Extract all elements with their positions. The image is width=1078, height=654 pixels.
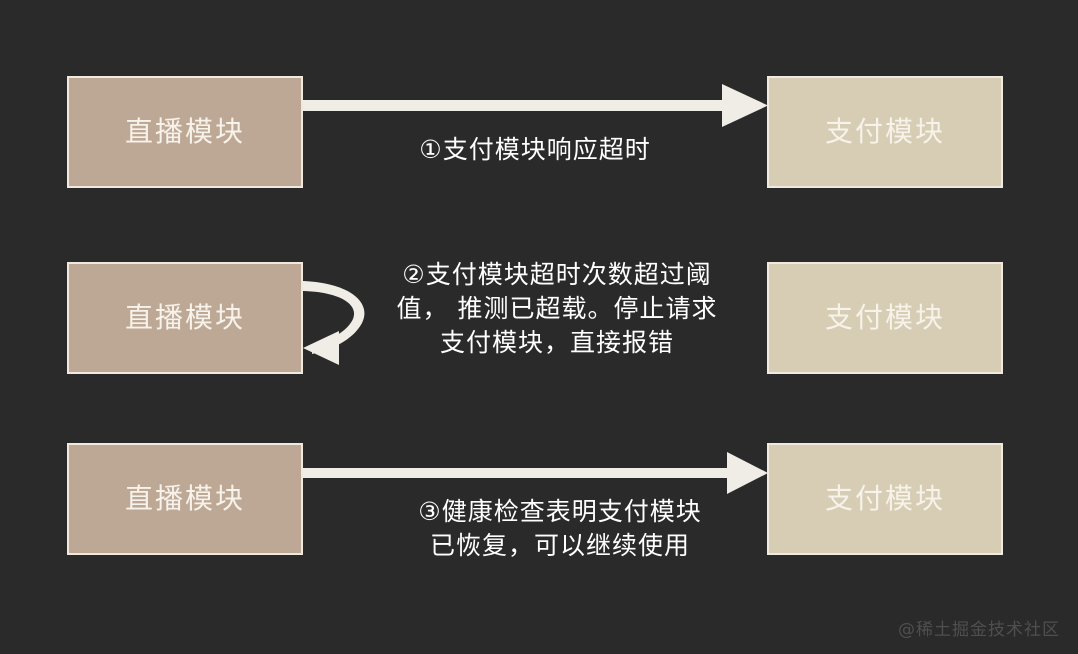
node-label: 直播模块: [125, 118, 245, 146]
node-payment-module-row1[interactable]: 支付模块: [767, 76, 1003, 188]
edge-label-2-line3: 支付模块，直接报错: [372, 326, 742, 360]
node-label: 支付模块: [825, 485, 945, 513]
edge-label-1: ①支付模块响应超时: [330, 133, 740, 167]
edge-label-3-line2: 已恢复，可以继续使用: [355, 529, 765, 563]
watermark: @稀土掘金技术社区: [898, 615, 1060, 640]
node-payment-module-row3[interactable]: 支付模块: [767, 443, 1003, 555]
node-live-module-row3[interactable]: 直播模块: [67, 443, 303, 555]
edge-label-3: ③健康检查表明支付模块 已恢复，可以继续使用: [355, 495, 765, 563]
diagram-canvas: 直播模块 支付模块 ①支付模块响应超时 直播模块 支付模块 ②支付模块超时次数超…: [0, 0, 1078, 654]
edge-label-1-line1: ①支付模块响应超时: [330, 133, 740, 167]
node-label: 直播模块: [125, 485, 245, 513]
node-label: 直播模块: [125, 304, 245, 332]
arrow-row1: [303, 84, 768, 127]
node-live-module-row1[interactable]: 直播模块: [67, 76, 303, 188]
edge-label-2-line1: ②支付模块超时次数超过阈: [372, 258, 742, 292]
edge-label-2: ②支付模块超时次数超过阈 值， 推测已超载。停止请求 支付模块，直接报错: [372, 258, 742, 360]
edge-label-3-line1: ③健康检查表明支付模块: [355, 495, 765, 529]
node-label: 支付模块: [825, 304, 945, 332]
node-live-module-row2[interactable]: 直播模块: [67, 262, 303, 374]
edge-label-2-line2: 值， 推测已超载。停止请求: [372, 292, 742, 326]
arrow-row2-self-loop: [300, 281, 365, 365]
node-label: 支付模块: [825, 118, 945, 146]
arrow-row3: [303, 452, 768, 494]
node-payment-module-row2[interactable]: 支付模块: [767, 262, 1003, 374]
